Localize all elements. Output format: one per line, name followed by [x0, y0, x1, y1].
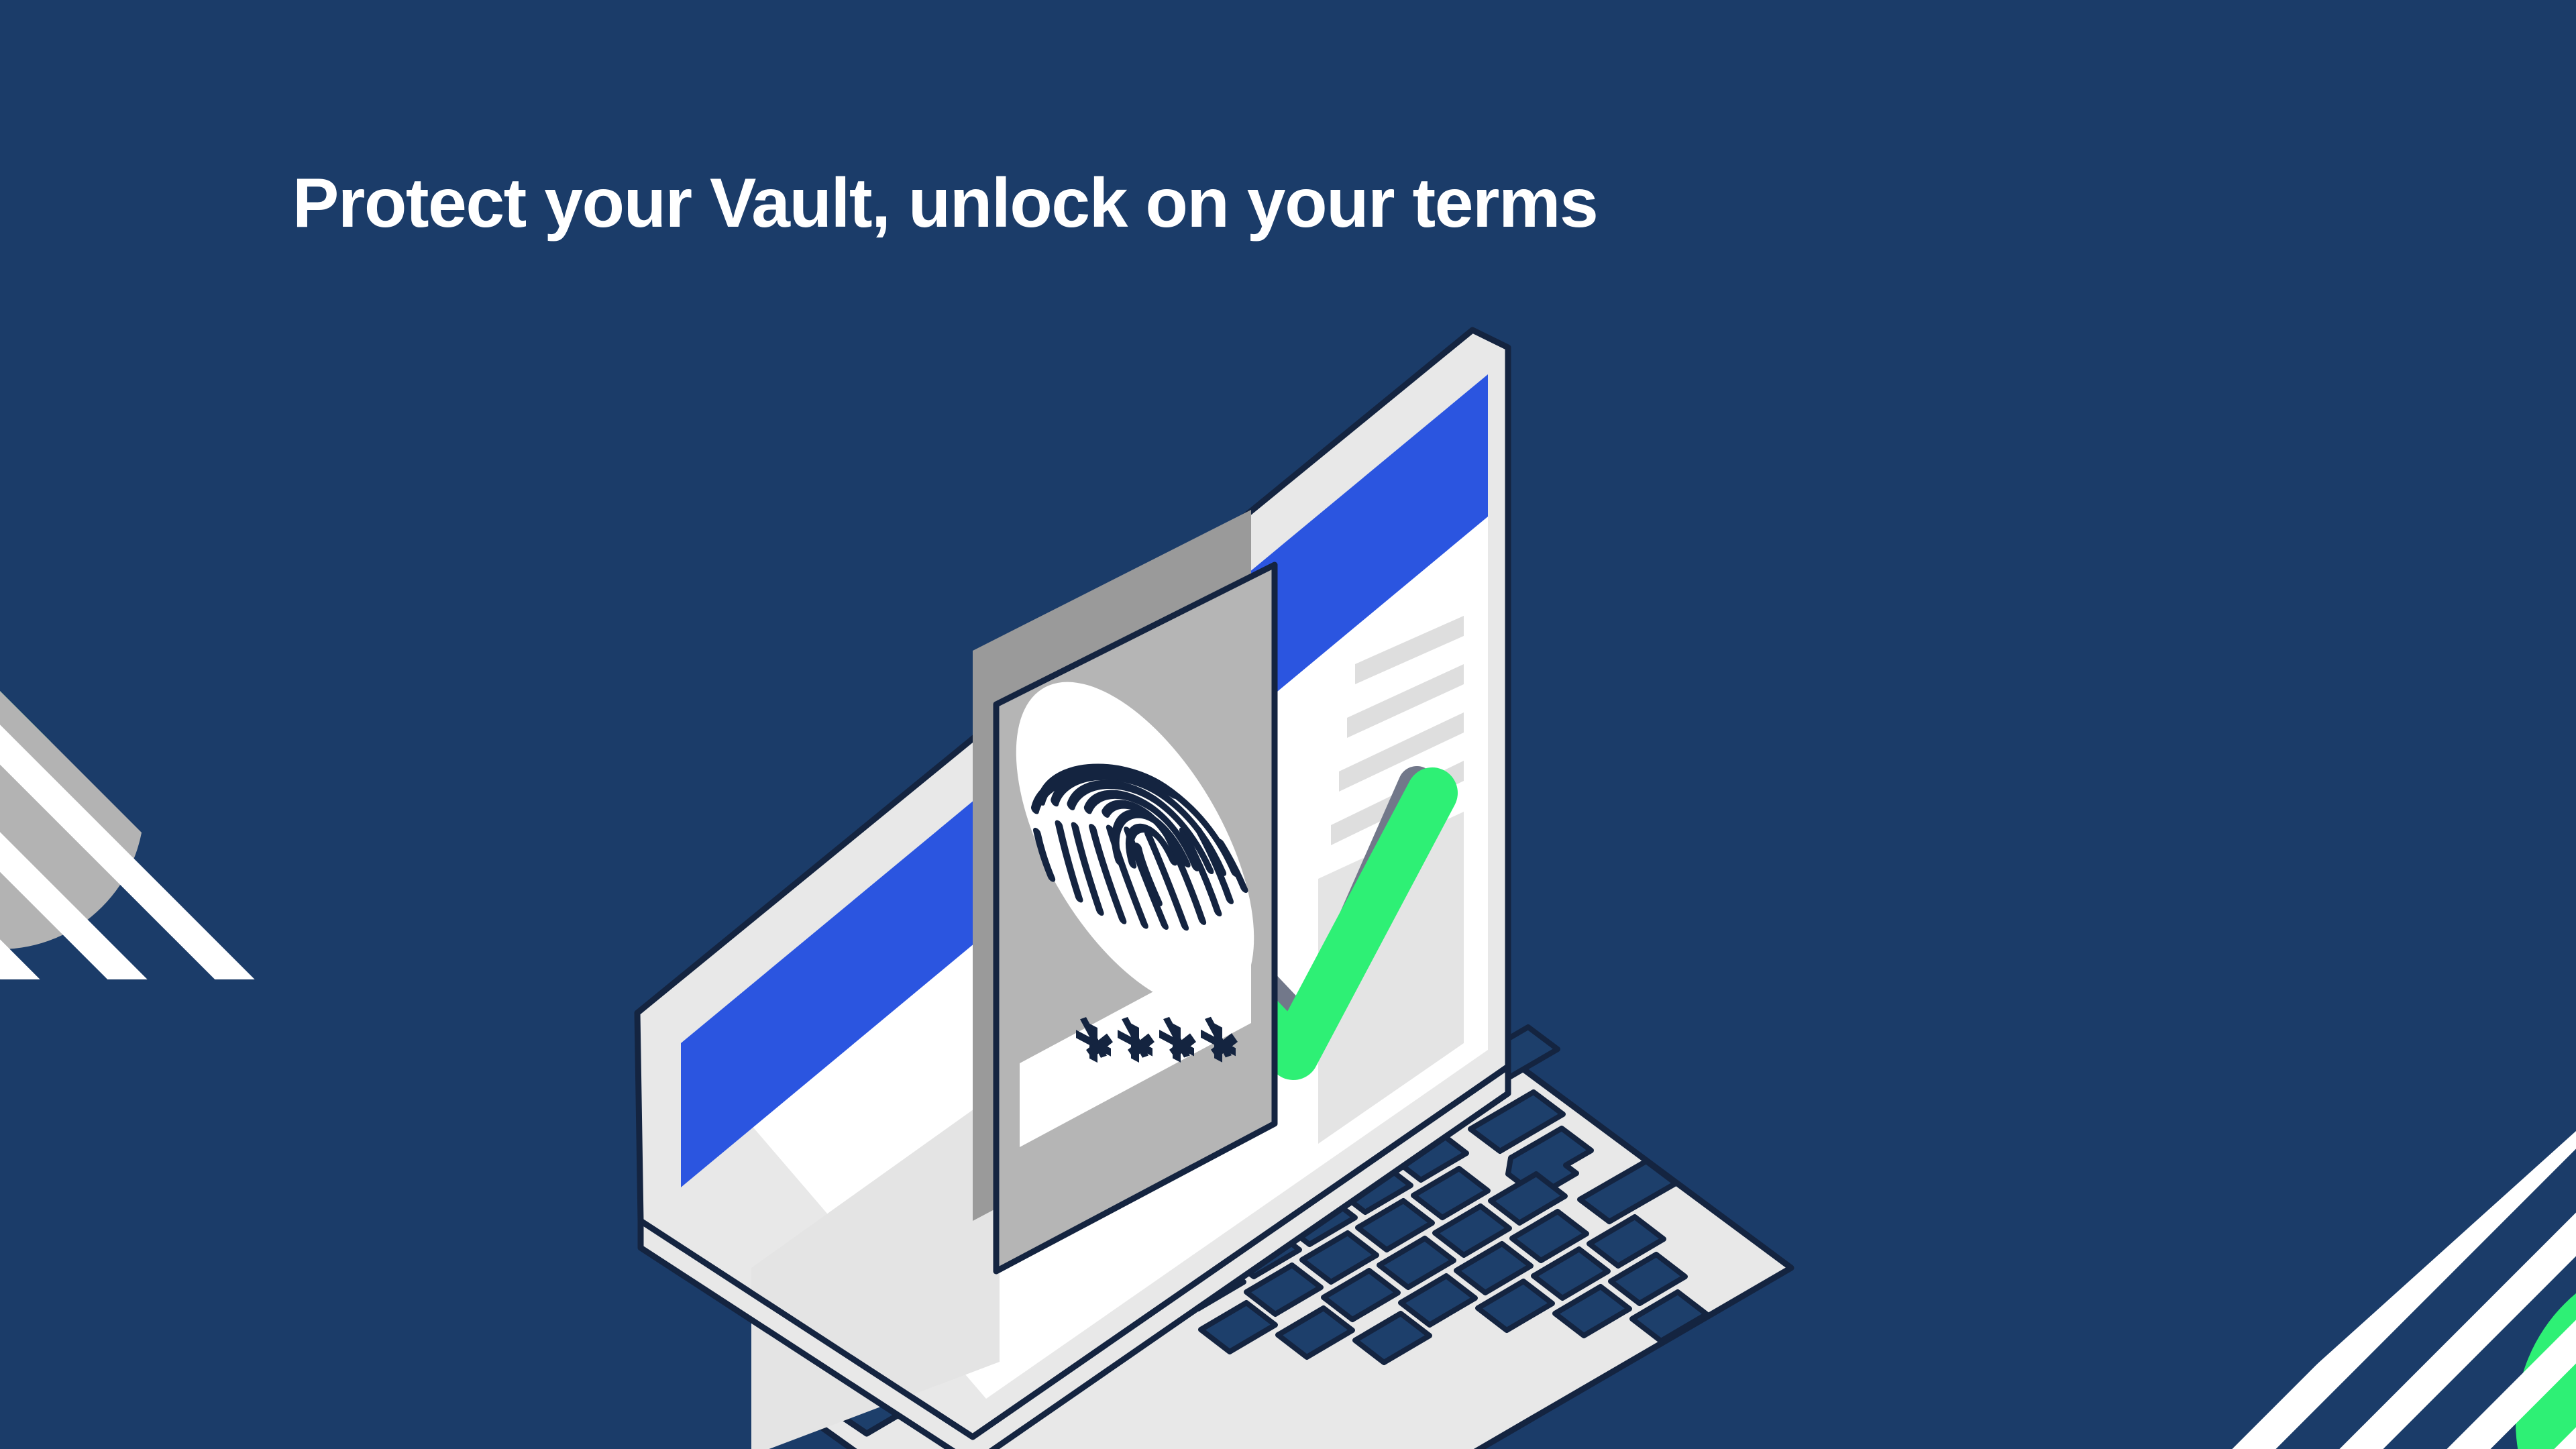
hero-illustration	[624, 315, 1912, 1449]
green-circle	[0, 657, 60, 926]
stripe-group	[2173, 859, 2576, 1449]
page-root: Protect your Vault, unlock on your terms	[0, 0, 2576, 1449]
green-circle	[2516, 1254, 2576, 1449]
decoration-bottom-right	[2133, 926, 2576, 1449]
page-title: Protect your Vault, unlock on your terms	[292, 165, 1597, 241]
gray-circle	[0, 661, 144, 949]
decoration-top-left	[0, 376, 288, 979]
